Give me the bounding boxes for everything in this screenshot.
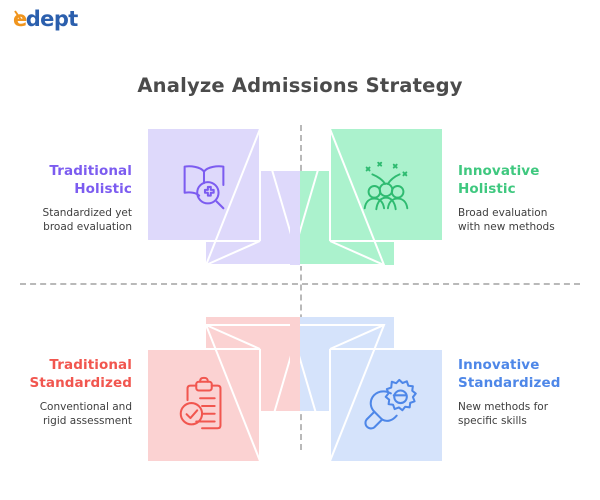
brand-logo: e dept — [13, 8, 78, 30]
quadrant-artwork — [300, 123, 450, 273]
logo-wordmark: dept — [26, 9, 78, 30]
quadrant-innovative-holistic[interactable]: Innovative Holistic Broad evaluation wit… — [300, 118, 600, 278]
quadrant-title: Innovative Holistic — [458, 162, 582, 198]
quadrant-traditional-standardized[interactable]: Traditional Standardized Conventional an… — [0, 312, 300, 472]
quadrant-description: Conventional and rigid assessment — [8, 400, 132, 428]
quadrant-title: Traditional Standardized — [8, 356, 132, 392]
group-celebration-icon — [330, 129, 442, 241]
quadrant-description: New methods for specific skills — [458, 400, 582, 428]
book-magnifier-plus-icon — [148, 129, 260, 241]
quadrant-description-line2: broad evaluation — [43, 221, 132, 233]
quadrant-traditional-holistic[interactable]: Traditional Holistic Standardized yet br… — [0, 118, 300, 278]
logo-e-mark: e — [13, 9, 27, 30]
quadrant-description-line2: specific skills — [458, 415, 527, 427]
quadrant-title-line2: Holistic — [74, 181, 132, 197]
quadrant-description-line1: Conventional and — [40, 401, 132, 413]
quadrant-artwork — [140, 123, 290, 273]
quadrant-title-line1: Innovative — [458, 163, 539, 179]
quadrant-description-line1: Broad evaluation — [458, 207, 547, 219]
quadrant-text-block: Traditional Holistic Standardized yet br… — [0, 162, 140, 235]
quadrant-description: Standardized yet broad evaluation — [8, 206, 132, 234]
quadrant-description-line1: New methods for — [458, 401, 548, 413]
quadrant-title: Traditional Holistic — [8, 162, 132, 198]
wrench-gear-icon — [330, 349, 442, 461]
quadrant-title-line1: Innovative — [458, 357, 539, 373]
quadrant-artwork — [140, 317, 290, 467]
quadrant-text-block: Innovative Holistic Broad evaluation wit… — [450, 162, 590, 235]
quadrant-title: Innovative Standardized — [458, 356, 582, 392]
quadrant-innovative-standardized[interactable]: Innovative Standardized New methods for … — [300, 312, 600, 472]
quadrant-title-line1: Traditional — [49, 357, 132, 373]
quadrant-artwork — [300, 317, 450, 467]
quadrant-description-line2: with new methods — [458, 221, 555, 233]
quadrant-description-line2: rigid assessment — [43, 415, 132, 427]
clipboard-check-icon — [148, 349, 260, 461]
quadrant-text-block: Innovative Standardized New methods for … — [450, 356, 590, 429]
quadrant-title-line2: Standardized — [30, 375, 133, 391]
page-title: Analyze Admissions Strategy — [0, 74, 600, 97]
quadrant-title-line1: Traditional — [49, 163, 132, 179]
quadrant-description: Broad evaluation with new methods — [458, 206, 582, 234]
divider-horizontal — [20, 283, 580, 285]
quadrant-title-line2: Holistic — [458, 181, 516, 197]
quadrant-description-line1: Standardized yet — [43, 207, 132, 219]
quadrant-title-line2: Standardized — [458, 375, 561, 391]
quadrant-text-block: Traditional Standardized Conventional an… — [0, 356, 140, 429]
